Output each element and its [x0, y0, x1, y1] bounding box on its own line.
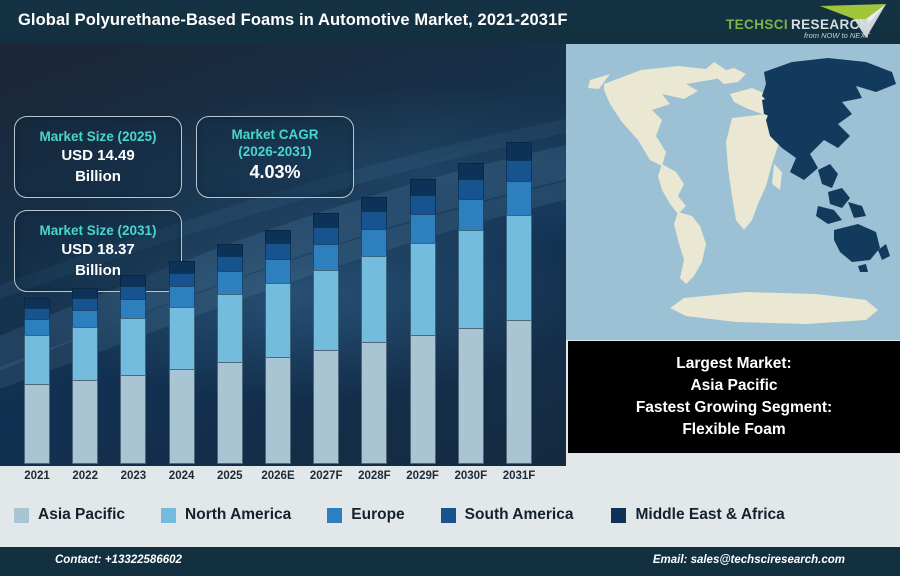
legend-swatch-icon [611, 508, 626, 523]
segment-south-america [265, 243, 291, 259]
segment-asia-pacific [120, 375, 146, 464]
segment-middle-east-africa [313, 213, 339, 227]
world-map-svg [566, 44, 900, 340]
bar-2028F [361, 197, 387, 465]
x-label-2025: 2025 [204, 470, 256, 482]
x-axis-labels: 202120222023202420252026E2027F2028F2029F… [0, 468, 566, 490]
bar-2026E [265, 230, 291, 464]
page-title: Global Polyurethane-Based Foams in Autom… [18, 11, 568, 30]
segment-asia-pacific [217, 362, 243, 464]
x-label-2029F: 2029F [397, 470, 449, 482]
segment-south-america [458, 179, 484, 199]
footer-email: Email: sales@techsciresearch.com [653, 554, 845, 566]
x-label-2028F: 2028F [348, 470, 400, 482]
segment-north-america [361, 256, 387, 342]
x-label-2030F: 2030F [445, 470, 497, 482]
segment-middle-east-africa [217, 244, 243, 257]
segment-europe [72, 310, 98, 327]
segment-south-america [217, 256, 243, 271]
x-label-2027F: 2027F [300, 470, 352, 482]
legend-item-south-america[interactable]: South America [441, 506, 574, 524]
footer-bar: Contact: +13322586602 Email: sales@techs… [0, 547, 900, 576]
segment-europe [120, 299, 146, 318]
world-map [566, 44, 900, 340]
bar-2031F [506, 142, 532, 464]
bar-2023 [120, 275, 146, 464]
legend-swatch-icon [441, 508, 456, 523]
highlights-box: Largest Market: Asia Pacific Fastest Gro… [568, 341, 900, 453]
segment-middle-east-africa [265, 230, 291, 243]
legend-label: Middle East & Africa [635, 506, 784, 524]
segment-asia-pacific [265, 357, 291, 464]
segment-north-america [506, 215, 532, 321]
segment-europe [169, 286, 195, 307]
bar-2030F [458, 163, 484, 464]
segment-south-america [169, 273, 195, 286]
segment-north-america [458, 230, 484, 329]
segment-asia-pacific [313, 350, 339, 464]
segment-middle-east-africa [506, 142, 532, 160]
x-label-2022: 2022 [59, 470, 111, 482]
segment-north-america [313, 270, 339, 350]
segment-south-america [120, 286, 146, 299]
segment-middle-east-africa [169, 261, 195, 273]
segment-north-america [265, 283, 291, 356]
x-label-2026E: 2026E [252, 470, 304, 482]
segment-south-america [506, 160, 532, 181]
footer-contact: Contact: +13322586602 [55, 554, 182, 566]
legend-item-middle-east-africa[interactable]: Middle East & Africa [611, 506, 784, 524]
segment-europe [24, 319, 50, 335]
bar-2027F [313, 213, 339, 464]
bar-2024 [169, 261, 195, 464]
x-label-2024: 2024 [156, 470, 208, 482]
stacked-bar-chart [0, 44, 566, 492]
legend-item-europe[interactable]: Europe [327, 506, 404, 524]
segment-south-america [313, 227, 339, 244]
segment-north-america [120, 318, 146, 375]
segment-europe [217, 271, 243, 294]
legend-label: North America [185, 506, 291, 524]
segment-asia-pacific [169, 369, 195, 464]
fastest-segment-label: Fastest Growing Segment: [636, 397, 832, 419]
segment-north-america [169, 307, 195, 369]
segment-middle-east-africa [410, 179, 436, 195]
svg-text:TECHSCI: TECHSCI [726, 17, 788, 32]
segment-asia-pacific [458, 328, 484, 464]
legend-swatch-icon [327, 508, 342, 523]
x-label-2021: 2021 [11, 470, 63, 482]
segment-europe [313, 244, 339, 270]
segment-north-america [72, 327, 98, 379]
header-bar: Global Polyurethane-Based Foams in Autom… [0, 0, 900, 44]
bar-2022 [72, 288, 98, 464]
segment-asia-pacific [361, 342, 387, 464]
segment-middle-east-africa [458, 163, 484, 180]
legend-swatch-icon [161, 508, 176, 523]
x-label-2031F: 2031F [493, 470, 545, 482]
segment-north-america [410, 243, 436, 335]
fastest-segment-value: Flexible Foam [682, 419, 785, 441]
x-label-2023: 2023 [107, 470, 159, 482]
legend-label: Europe [351, 506, 404, 524]
segment-asia-pacific [506, 320, 532, 464]
segment-south-america [24, 308, 50, 319]
segment-south-america [361, 211, 387, 228]
segment-asia-pacific [24, 384, 50, 465]
segment-north-america [24, 335, 50, 384]
legend-label: Asia Pacific [38, 506, 125, 524]
svg-text:RESEARCH: RESEARCH [791, 17, 870, 32]
legend-item-north-america[interactable]: North America [161, 506, 291, 524]
segment-europe [361, 229, 387, 257]
segment-south-america [72, 298, 98, 310]
chart-legend: Asia PacificNorth AmericaEuropeSouth Ame… [0, 492, 900, 538]
legend-swatch-icon [14, 508, 29, 523]
segment-asia-pacific [72, 380, 98, 464]
segment-europe [265, 259, 291, 283]
bar-2025 [217, 244, 243, 464]
bar-2021 [24, 298, 50, 464]
legend-label: South America [465, 506, 574, 524]
segment-middle-east-africa [24, 298, 50, 307]
segment-north-america [217, 294, 243, 362]
segment-europe [506, 181, 532, 214]
svg-text:from NOW to NEXT: from NOW to NEXT [804, 31, 871, 40]
segment-europe [410, 214, 436, 243]
segment-south-america [410, 195, 436, 214]
segment-middle-east-africa [361, 197, 387, 212]
bar-2029F [410, 179, 436, 464]
infographic-root: Global Polyurethane-Based Foams in Autom… [0, 0, 900, 576]
chart-panel: Market Size (2025) USD 14.49 Billion Mar… [0, 44, 566, 492]
largest-market-label: Largest Market: [676, 353, 791, 375]
techsci-research-logo: TECHSCI RESEARCH from NOW to NEXT [716, 2, 894, 42]
legend-item-asia-pacific[interactable]: Asia Pacific [14, 506, 125, 524]
segment-asia-pacific [410, 335, 436, 464]
largest-market-value: Asia Pacific [690, 375, 777, 397]
segment-europe [458, 199, 484, 230]
segment-middle-east-africa [120, 275, 146, 286]
segment-middle-east-africa [72, 288, 98, 298]
